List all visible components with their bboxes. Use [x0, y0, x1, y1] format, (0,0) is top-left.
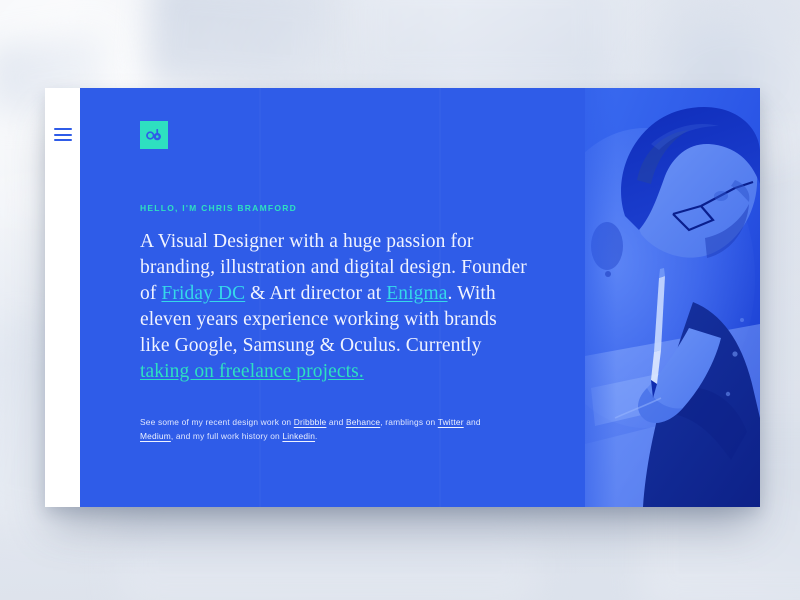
hero-tagline: HELLO, I'M CHRIS BRAMFORD — [140, 203, 720, 213]
subtext-segment: See some of my recent design work on — [140, 417, 294, 427]
hero-content: HELLO, I'M CHRIS BRAMFORD A Visual Desig… — [80, 88, 760, 443]
hero-panel: HELLO, I'M CHRIS BRAMFORD A Visual Desig… — [80, 88, 760, 507]
backdrop-blur-shape — [350, 0, 610, 90]
link-twitter[interactable]: Twitter — [438, 417, 464, 427]
hamburger-bar — [54, 128, 72, 130]
sidebar-rail — [45, 88, 80, 507]
link-enigma[interactable]: Enigma — [386, 283, 447, 304]
subtext-segment: . — [315, 431, 318, 441]
hamburger-menu-icon[interactable] — [54, 128, 72, 141]
link-friday-dc[interactable]: Friday DC — [161, 283, 245, 304]
link-dribbble[interactable]: Dribbble — [294, 417, 327, 427]
headline-segment: & Art director at — [245, 283, 386, 304]
link-behance[interactable]: Behance — [346, 417, 380, 427]
link-medium[interactable]: Medium — [140, 431, 171, 441]
backdrop-blur-shape — [120, 520, 540, 600]
subtext-segment: , ramblings on — [380, 417, 437, 427]
link-linkedin[interactable]: Linkedin — [282, 431, 315, 441]
backdrop-blur-shape — [146, 0, 333, 96]
link-freelance-projects[interactable]: taking on freelance projects. — [140, 361, 364, 382]
hero-headline: A Visual Designer with a huge passion fo… — [140, 229, 530, 385]
subtext-segment: , and my full work history on — [171, 431, 283, 441]
cb-monogram-icon[interactable] — [140, 121, 168, 149]
website-card: HELLO, I'M CHRIS BRAMFORD A Visual Desig… — [45, 88, 760, 507]
subtext-segment: and — [326, 417, 346, 427]
hero-subtext: See some of my recent design work on Dri… — [140, 415, 510, 443]
hamburger-bar — [54, 139, 72, 141]
hamburger-bar — [54, 134, 72, 136]
subtext-segment: and — [464, 417, 481, 427]
